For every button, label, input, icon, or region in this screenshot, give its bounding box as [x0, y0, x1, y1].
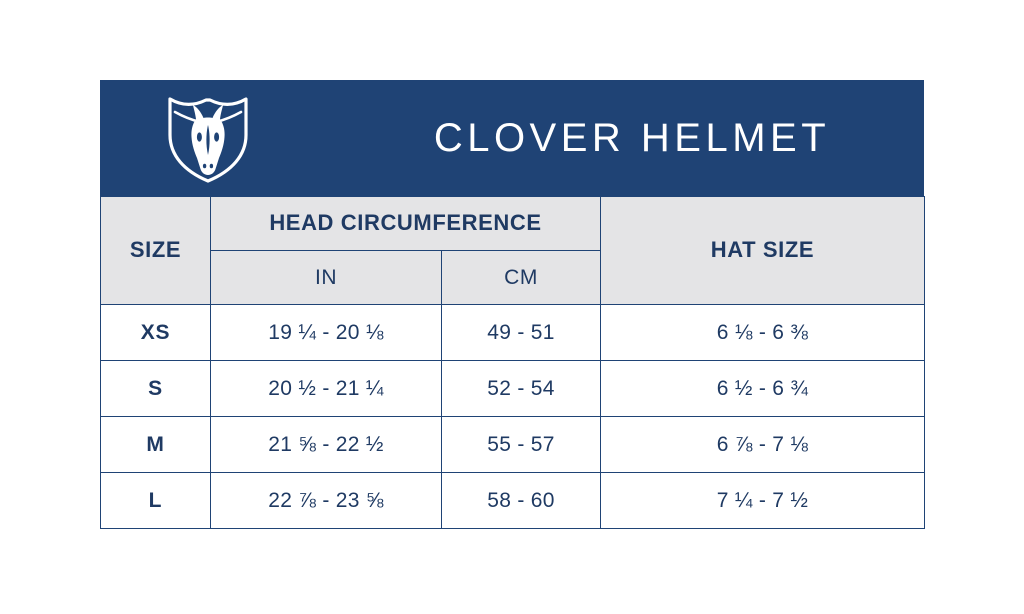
cell-circumference-in: 22 ⅞ - 23 ⅝: [211, 473, 442, 529]
cell-circumference-in: 19 ¼ - 20 ⅛: [211, 305, 442, 361]
cell-size: XS: [101, 305, 211, 361]
cell-circumference-cm: 55 - 57: [442, 417, 601, 473]
cell-hat-size: 7 ¼ - 7 ½: [601, 473, 925, 529]
cell-circumference-cm: 52 - 54: [442, 361, 601, 417]
table-row: XS 19 ¼ - 20 ⅛ 49 - 51 6 ⅛ - 6 ⅜: [101, 305, 925, 361]
column-subheader-cm: CM: [442, 251, 601, 305]
table-row: L 22 ⅞ - 23 ⅝ 58 - 60 7 ¼ - 7 ½: [101, 473, 925, 529]
table-header: SIZE HEAD CIRCUMFERENCE HAT SIZE IN CM: [101, 197, 925, 305]
table-row: M 21 ⅝ - 22 ½ 55 - 57 6 ⅞ - 7 ⅛: [101, 417, 925, 473]
cell-hat-size: 6 ⅞ - 7 ⅛: [601, 417, 925, 473]
cell-circumference-cm: 49 - 51: [442, 305, 601, 361]
cell-size: L: [101, 473, 211, 529]
table-body: XS 19 ¼ - 20 ⅛ 49 - 51 6 ⅛ - 6 ⅜ S 20 ½ …: [101, 305, 925, 529]
title-band: CLOVER HELMET: [100, 80, 924, 196]
page-title: CLOVER HELMET: [340, 116, 924, 161]
cell-size: M: [101, 417, 211, 473]
header-row-group: SIZE HEAD CIRCUMFERENCE HAT SIZE: [101, 197, 925, 251]
table-row: S 20 ½ - 21 ¼ 52 - 54 6 ½ - 6 ¾: [101, 361, 925, 417]
cell-size: S: [101, 361, 211, 417]
column-subheader-in: IN: [211, 251, 442, 305]
cell-circumference-cm: 58 - 60: [442, 473, 601, 529]
column-header-size: SIZE: [101, 197, 211, 305]
column-header-hat-size: HAT SIZE: [601, 197, 925, 305]
cell-circumference-in: 20 ½ - 21 ¼: [211, 361, 442, 417]
size-chart: CLOVER HELMET SIZE HEAD CIRCUMFERENCE HA…: [100, 80, 924, 534]
cell-hat-size: 6 ⅛ - 6 ⅜: [601, 305, 925, 361]
column-header-head-circumference: HEAD CIRCUMFERENCE: [211, 197, 601, 251]
sizing-table: SIZE HEAD CIRCUMFERENCE HAT SIZE IN CM X…: [100, 196, 925, 529]
cell-hat-size: 6 ½ - 6 ¾: [601, 361, 925, 417]
shield-horse-head-icon: [162, 93, 254, 183]
cell-circumference-in: 21 ⅝ - 22 ½: [211, 417, 442, 473]
